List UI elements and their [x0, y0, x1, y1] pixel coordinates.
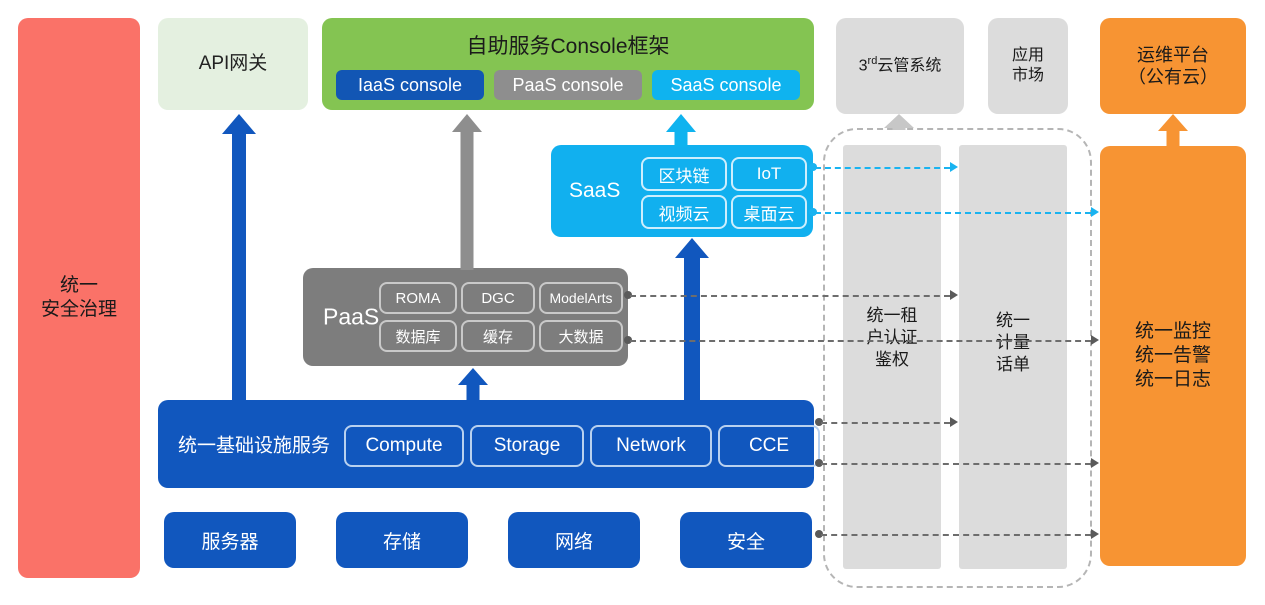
paas-block: PaaS ROMA DGC ModelArts 数据库 缓存 大数据: [303, 268, 628, 366]
paas-item-bigdata[interactable]: 大数据: [539, 320, 623, 352]
saas-item-blockchain-label: 区块链: [659, 162, 710, 187]
api-gateway-label: API网关: [199, 52, 268, 76]
unified-infrastructure-bar: 统一基础设施服务 Compute Storage Network CCE: [158, 400, 814, 488]
third-party-cloud-mgmt-label: 3rd云管系统: [859, 55, 942, 76]
resource-box-storage-label: 存储: [383, 527, 421, 554]
resource-box-security[interactable]: 安全: [680, 512, 812, 568]
saas-item-desktopcloud-label: 桌面云: [744, 200, 795, 225]
saas-item-videocloud[interactable]: 视频云: [641, 195, 727, 229]
arrowhead-infra-ops: [1091, 458, 1099, 468]
infra-item-network-label: Network: [616, 435, 686, 457]
paas-item-cache-label: 缓存: [483, 326, 513, 347]
saas-block: SaaS 区块链 IoT 视频云 桌面云: [551, 145, 813, 237]
arrowhead-saas-ops: [1091, 207, 1099, 217]
saas-console-label: SaaS console: [670, 75, 781, 96]
paas-item-dgc-label: DGC: [481, 290, 514, 307]
ops-platform-label: 运维平台 （公有云）: [1128, 44, 1218, 89]
infra-item-storage-label: Storage: [494, 435, 561, 457]
paas-item-cache[interactable]: 缓存: [461, 320, 535, 352]
connector-resources-to-ops: [821, 534, 1091, 536]
saas-item-videocloud-label: 视频云: [659, 200, 710, 225]
infra-item-compute-label: Compute: [365, 435, 442, 457]
metering-column: 统一 计量 话单: [959, 145, 1067, 569]
saas-item-desktopcloud[interactable]: 桌面云: [731, 195, 807, 229]
app-market-label: 应用 市场: [1012, 46, 1044, 86]
connector-saas-to-ops: [815, 212, 1091, 214]
arrowhead-saas-auth: [950, 162, 958, 172]
saas-item-iot-label: IoT: [757, 164, 782, 184]
paas-item-dgc[interactable]: DGC: [461, 282, 535, 314]
infra-item-cce-label: CCE: [749, 435, 789, 457]
arrow-infra-to-paas: [458, 368, 488, 402]
iaas-console-chip[interactable]: IaaS console: [336, 70, 484, 100]
saas-item-iot[interactable]: IoT: [731, 157, 807, 191]
arrow-saas-to-saas-console: [666, 114, 696, 147]
saas-console-chip[interactable]: SaaS console: [652, 70, 800, 100]
connector-infra-to-ops: [821, 463, 1091, 465]
paas-item-modelarts[interactable]: ModelArts: [539, 282, 623, 314]
self-service-console-frame: 自助服务Console框架 IaaS console PaaS console …: [322, 18, 814, 110]
tenant-auth-column: 统一租 户认证 鉴权: [843, 145, 941, 569]
paas-block-name: PaaS: [323, 304, 379, 331]
arrow-paas-to-paas-console: [452, 114, 482, 270]
arrowhead-infra-auth: [950, 417, 958, 427]
arrowhead-paas-ops: [1091, 335, 1099, 345]
connector-paas-to-tenant-auth: [630, 295, 950, 297]
security-governance-panel: 统一 安全治理: [18, 18, 140, 578]
resource-box-network-label: 网络: [555, 527, 593, 554]
paas-item-modelarts-label: ModelArts: [549, 290, 612, 306]
resource-box-server[interactable]: 服务器: [164, 512, 296, 568]
arrow-infra-to-api-gateway: [222, 114, 256, 404]
arrow-infra-to-saas: [675, 238, 709, 402]
paas-item-bigdata-label: 大数据: [558, 326, 603, 347]
ops-monitoring-label: 统一监控 统一告警 统一日志: [1135, 320, 1211, 391]
infra-item-cce[interactable]: CCE: [718, 425, 820, 467]
resource-box-network[interactable]: 网络: [508, 512, 640, 568]
security-governance-label: 统一 安全治理: [41, 274, 117, 322]
arrow-to-ops-platform: [1158, 114, 1188, 148]
paas-item-roma-label: ROMA: [396, 290, 441, 307]
infra-item-storage[interactable]: Storage: [470, 425, 584, 467]
metering-label: 统一 计量 话单: [959, 310, 1067, 376]
arrowhead-paas-auth: [950, 290, 958, 300]
api-gateway-box: API网关: [158, 18, 308, 110]
connector-infra-to-tenant-auth: [821, 422, 950, 424]
infra-item-compute[interactable]: Compute: [344, 425, 464, 467]
resource-box-server-label: 服务器: [201, 527, 258, 554]
saas-item-blockchain[interactable]: 区块链: [641, 157, 727, 191]
paas-item-roma[interactable]: ROMA: [379, 282, 457, 314]
connector-paas-to-ops: [630, 340, 1091, 342]
paas-item-database[interactable]: 数据库: [379, 320, 457, 352]
ops-platform-box: 运维平台 （公有云）: [1100, 18, 1246, 114]
infra-item-network[interactable]: Network: [590, 425, 712, 467]
console-frame-title: 自助服务Console框架: [322, 30, 814, 60]
arrow-to-third-party-box: [884, 114, 914, 130]
saas-block-name: SaaS: [569, 179, 620, 203]
resource-box-storage[interactable]: 存储: [336, 512, 468, 568]
architecture-diagram: 统一 安全治理 API网关 自助服务Console框架 IaaS console…: [0, 0, 1265, 605]
connector-saas-to-tenant-auth: [815, 167, 950, 169]
resource-box-security-label: 安全: [727, 527, 765, 554]
iaas-console-label: IaaS console: [358, 75, 462, 96]
app-market-box: 应用 市场: [988, 18, 1068, 114]
unified-infrastructure-name: 统一基础设施服务: [178, 431, 330, 458]
third-party-cloud-mgmt-box: 3rd云管系统: [836, 18, 964, 114]
paas-console-chip[interactable]: PaaS console: [494, 70, 642, 100]
paas-item-database-label: 数据库: [395, 326, 440, 347]
tenant-auth-label: 统一租 户认证 鉴权: [843, 305, 941, 371]
arrowhead-resources-ops: [1091, 529, 1099, 539]
ops-monitoring-panel: 统一监控 统一告警 统一日志: [1100, 146, 1246, 566]
paas-console-label: PaaS console: [512, 75, 623, 96]
